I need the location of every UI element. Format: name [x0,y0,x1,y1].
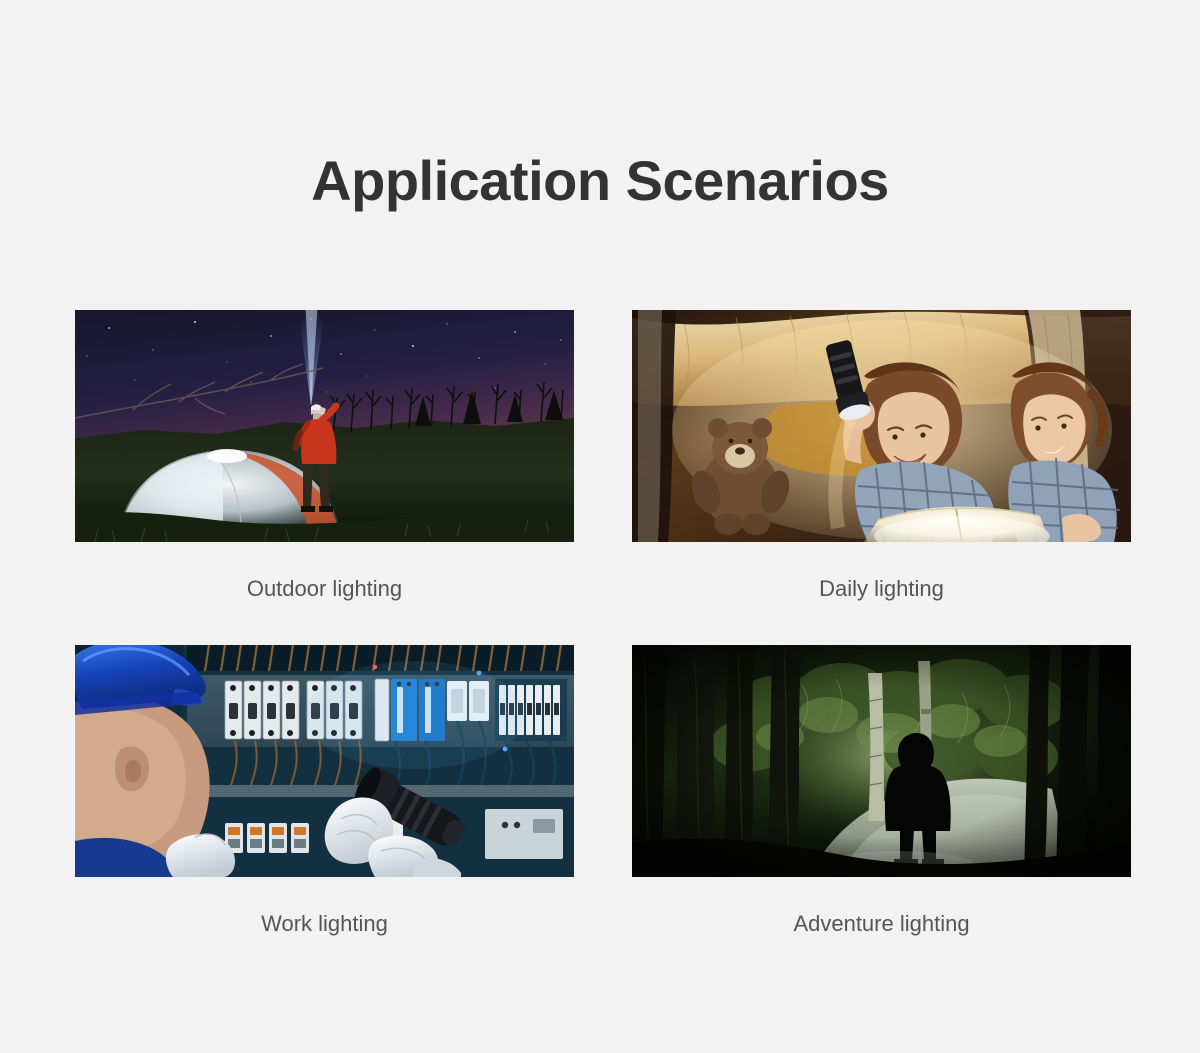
scenario-caption-daily: Daily lighting [632,542,1131,645]
daily-blanket-fort-photo[interactable] [632,310,1131,542]
scenario-caption-outdoor: Outdoor lighting [75,542,574,645]
scenario-card-daily[interactable]: Daily lighting [632,310,1131,645]
daily-scene-art [632,310,1131,542]
scenario-card-work[interactable]: Work lighting [75,645,574,935]
work-scene-art [75,645,574,877]
adventure-forest-path-photo[interactable] [632,645,1131,877]
adventure-scene-art [632,645,1131,877]
application-scenarios-page: Application Scenarios [0,0,1200,1053]
outdoor-scene-art [75,310,574,542]
scenario-card-outdoor[interactable]: Outdoor lighting [75,310,574,645]
page-title: Application Scenarios [0,150,1200,212]
scenario-card-adventure[interactable]: Adventure lighting [632,645,1131,935]
scenario-caption-work: Work lighting [75,877,574,935]
scenario-grid: Outdoor lighting [75,310,1131,935]
outdoor-night-camping-photo[interactable] [75,310,574,542]
scenario-caption-adventure: Adventure lighting [632,877,1131,935]
work-electrical-panel-photo[interactable] [75,645,574,877]
